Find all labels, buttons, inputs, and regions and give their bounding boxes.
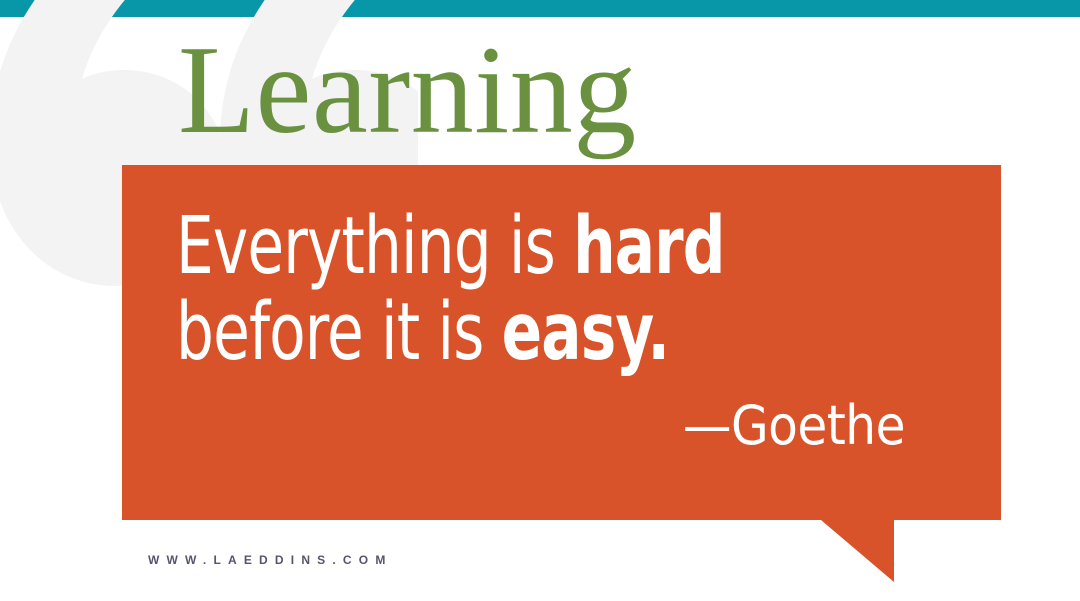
quote-line-2-plain: before it is xyxy=(176,286,502,378)
page-title: Learning xyxy=(178,28,637,154)
quote-line-1: Everything is hard xyxy=(176,203,798,289)
quote-line-2-emphasis: easy. xyxy=(502,286,670,378)
quote-line-2: before it is easy. xyxy=(176,289,798,375)
quote-line-1-emphasis: hard xyxy=(573,200,725,292)
quote-line-1-plain: Everything is xyxy=(176,200,573,292)
quote-text-block: Everything is hard before it is easy. xyxy=(176,203,916,375)
quote-slide: Learning Everything is hard before it is… xyxy=(0,0,1080,601)
footer-website-url: WWW.LAEDDINS.COM xyxy=(148,553,393,567)
quote-attribution: —Goethe xyxy=(176,395,905,457)
speech-bubble-tail xyxy=(821,520,894,582)
top-accent-bar xyxy=(0,0,1080,17)
